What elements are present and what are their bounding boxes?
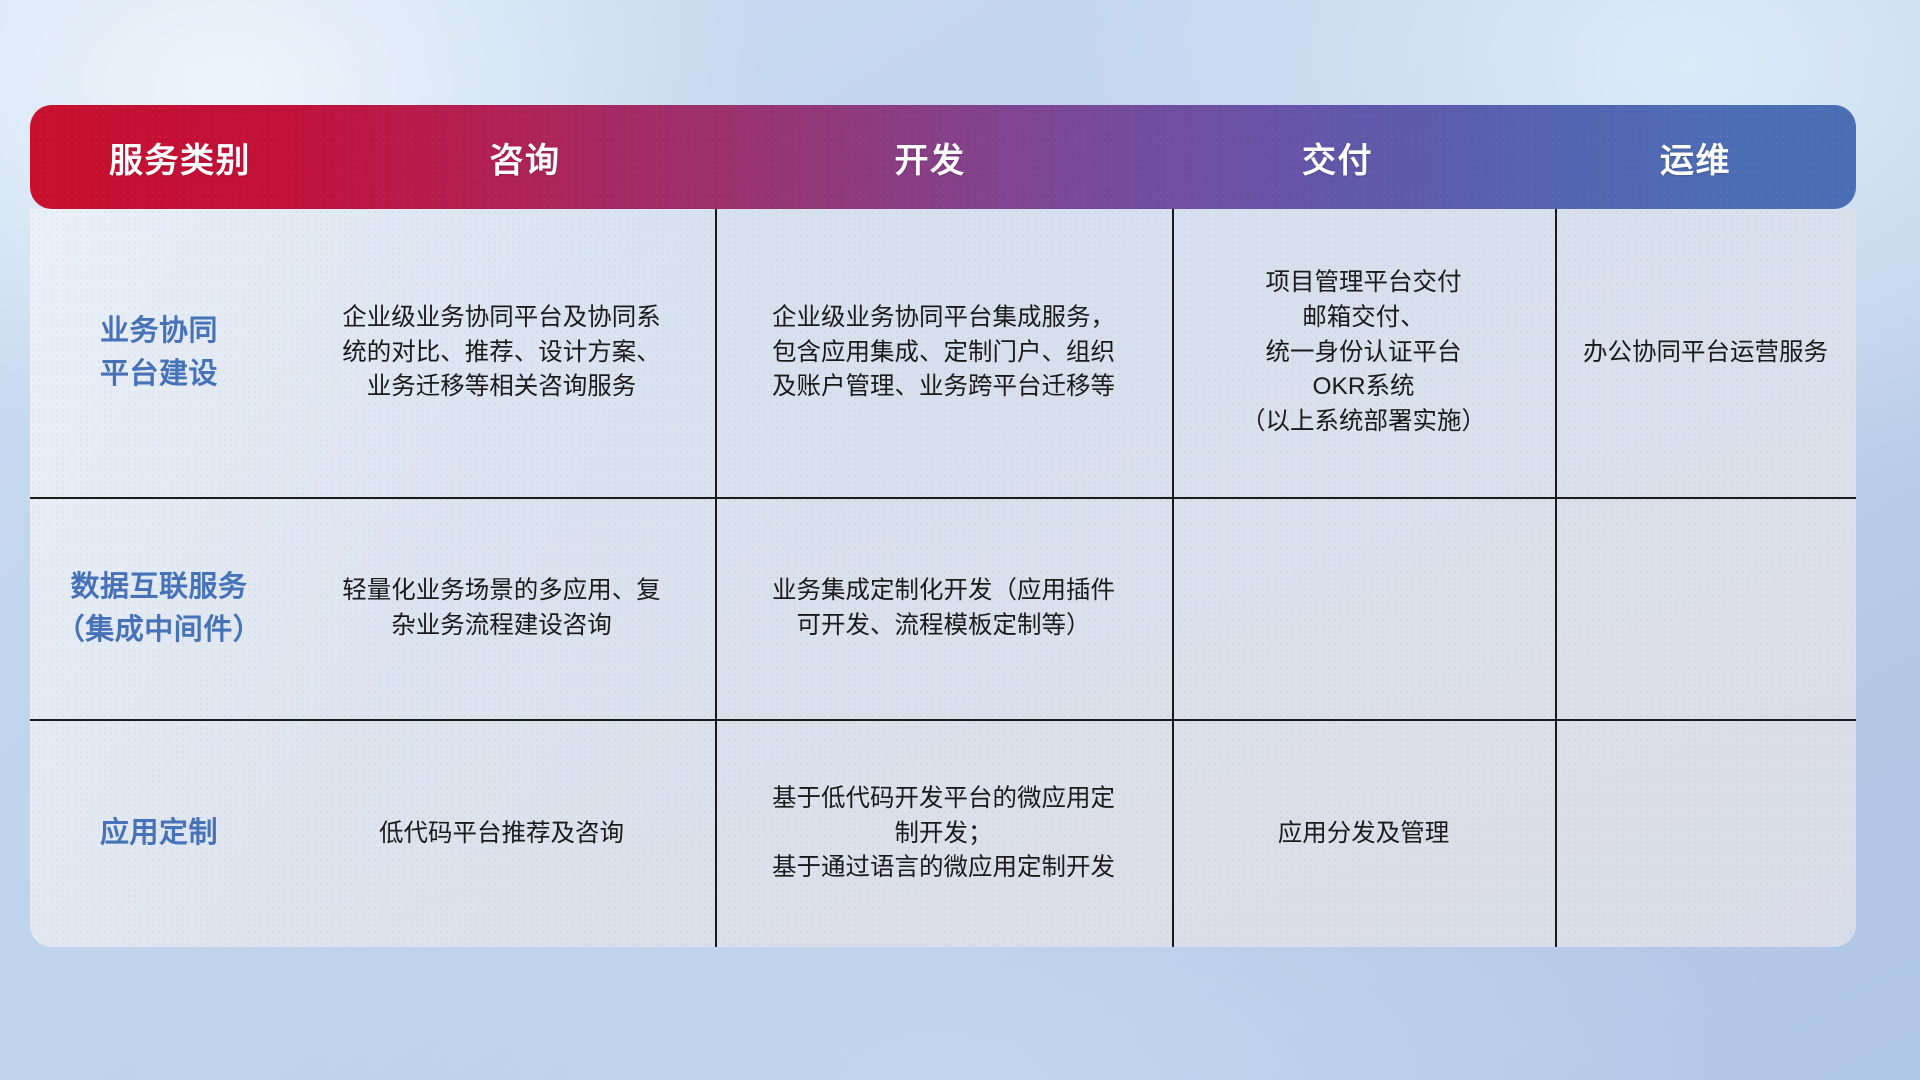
table-header-row: 服务类别 咨询 开发 交付 运维	[30, 105, 1856, 209]
column-divider	[715, 721, 717, 947]
column-header-operations: 运维	[1535, 133, 1856, 182]
row-divider	[30, 719, 1856, 721]
cell-category-2: 数据互联服务 （集成中间件）	[30, 499, 288, 719]
cell-development-3: 基于低代码开发平台的微应用定 制开发； 基于通过语言的微应用定制开发	[715, 721, 1172, 947]
column-divider	[715, 209, 717, 497]
cell-development-1: 企业级业务协同平台集成服务， 包含应用集成、定制门户、组织 及账户管理、业务跨平…	[715, 209, 1172, 497]
column-header-consulting: 咨询	[330, 133, 720, 182]
cell-operations-3	[1555, 721, 1856, 947]
service-matrix-table: 服务类别 咨询 开发 交付 运维 业务协同 平台建设 企业级业务协同平台及协同系…	[30, 105, 1856, 947]
cell-operations-1: 办公协同平台运营服务	[1555, 209, 1856, 497]
cell-category-3: 应用定制	[30, 721, 288, 947]
column-divider	[1555, 209, 1557, 497]
table-row: 业务协同 平台建设 企业级业务协同平台及协同系 统的对比、推荐、设计方案、 业务…	[30, 209, 1856, 497]
table-row: 应用定制 低代码平台推荐及咨询 基于低代码开发平台的微应用定 制开发； 基于通过…	[30, 721, 1856, 947]
cell-consulting-1: 企业级业务协同平台及协同系 统的对比、推荐、设计方案、 业务迁移等相关咨询服务	[288, 209, 715, 497]
column-header-development: 开发	[720, 133, 1140, 182]
cell-operations-2	[1555, 499, 1856, 719]
cell-delivery-1: 项目管理平台交付 邮箱交付、 统一身份认证平台 OKR系统 （以上系统部署实施）	[1172, 209, 1555, 497]
cell-consulting-3: 低代码平台推荐及咨询	[288, 721, 715, 947]
column-header-category: 服务类别	[30, 133, 330, 182]
column-header-delivery: 交付	[1140, 133, 1535, 182]
column-divider	[1172, 499, 1174, 719]
cell-delivery-3: 应用分发及管理	[1172, 721, 1555, 947]
column-divider	[1172, 721, 1174, 947]
table-row: 数据互联服务 （集成中间件） 轻量化业务场景的多应用、复 杂业务流程建设咨询 业…	[30, 499, 1856, 719]
cell-category-1: 业务协同 平台建设	[30, 209, 288, 497]
cell-development-2: 业务集成定制化开发（应用插件 可开发、流程模板定制等）	[715, 499, 1172, 719]
cell-consulting-2: 轻量化业务场景的多应用、复 杂业务流程建设咨询	[288, 499, 715, 719]
column-divider	[1555, 499, 1557, 719]
column-divider	[715, 499, 717, 719]
row-divider	[30, 497, 1856, 499]
cell-delivery-2	[1172, 499, 1555, 719]
column-divider	[1172, 209, 1174, 497]
column-divider	[1555, 721, 1557, 947]
table-body: 业务协同 平台建设 企业级业务协同平台及协同系 统的对比、推荐、设计方案、 业务…	[30, 209, 1856, 947]
